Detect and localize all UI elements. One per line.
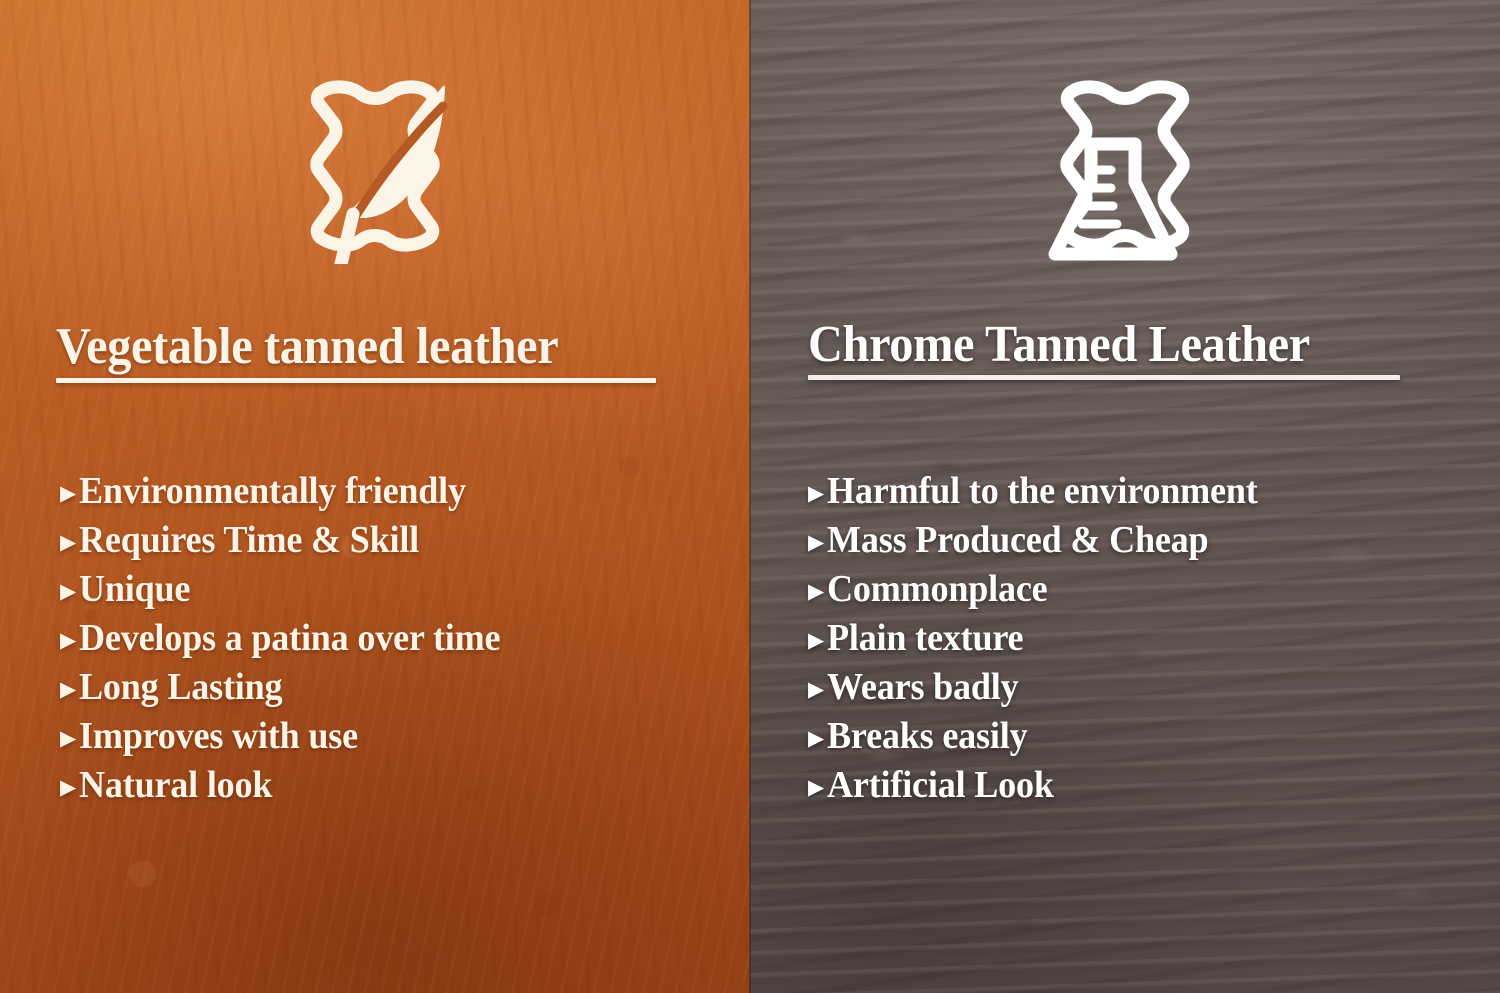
list-item: ▶ Wears badly: [808, 668, 1280, 717]
title-underline-chrome: [808, 375, 1400, 380]
list-item: ▶ Commonplace: [808, 570, 1280, 619]
list-item: ▶ Develops a patina over time: [60, 619, 523, 668]
list-item: ▶ Requires Time & Skill: [60, 521, 523, 570]
list-item: ▶ Environmentally friendly: [60, 472, 523, 521]
triangle-bullet-icon: ▶: [60, 728, 79, 749]
page-title-vegetable: Vegetable tanned leather: [56, 320, 558, 375]
triangle-bullet-icon: ▶: [808, 728, 827, 749]
feature-list-vegetable: ▶ Environmentally friendly ▶ Requires Ti…: [60, 472, 523, 815]
feature-list-chrome: ▶ Harmful to the environment ▶ Mass Prod…: [808, 472, 1280, 815]
triangle-bullet-icon: ▶: [60, 581, 79, 602]
list-item: ▶ Improves with use: [60, 717, 523, 766]
list-item: ▶ Natural look: [60, 766, 523, 815]
triangle-bullet-icon: ▶: [808, 483, 827, 504]
hide-flask-icon: [750, 78, 1500, 264]
list-item: ▶ Unique: [60, 570, 523, 619]
triangle-bullet-icon: ▶: [60, 630, 79, 651]
comparison-infographic: Vegetable tanned leather ▶ Environmental…: [0, 0, 1500, 993]
triangle-bullet-icon: ▶: [808, 532, 827, 553]
triangle-bullet-icon: ▶: [60, 679, 79, 700]
list-item: ▶ Harmful to the environment: [808, 472, 1280, 521]
panel-divider: [749, 0, 751, 993]
list-item: ▶ Long Lasting: [60, 668, 523, 717]
panel-vegetable-tanned: Vegetable tanned leather ▶ Environmental…: [0, 0, 750, 993]
triangle-bullet-icon: ▶: [808, 630, 827, 651]
triangle-bullet-icon: ▶: [60, 532, 79, 553]
list-item: ▶ Breaks easily: [808, 717, 1280, 766]
list-item: ▶ Mass Produced & Cheap: [808, 521, 1280, 570]
triangle-bullet-icon: ▶: [808, 777, 827, 798]
panel-chrome-tanned: Chrome Tanned Leather ▶ Harmful to the e…: [750, 0, 1500, 993]
triangle-bullet-icon: ▶: [808, 581, 827, 602]
triangle-bullet-icon: ▶: [60, 483, 79, 504]
page-title-chrome: Chrome Tanned Leather: [808, 318, 1310, 373]
hide-leaf-icon: [0, 78, 750, 264]
title-underline-vegetable: [56, 378, 656, 383]
list-item: ▶ Artificial Look: [808, 766, 1280, 815]
triangle-bullet-icon: ▶: [808, 679, 827, 700]
triangle-bullet-icon: ▶: [60, 777, 79, 798]
list-item: ▶ Plain texture: [808, 619, 1280, 668]
